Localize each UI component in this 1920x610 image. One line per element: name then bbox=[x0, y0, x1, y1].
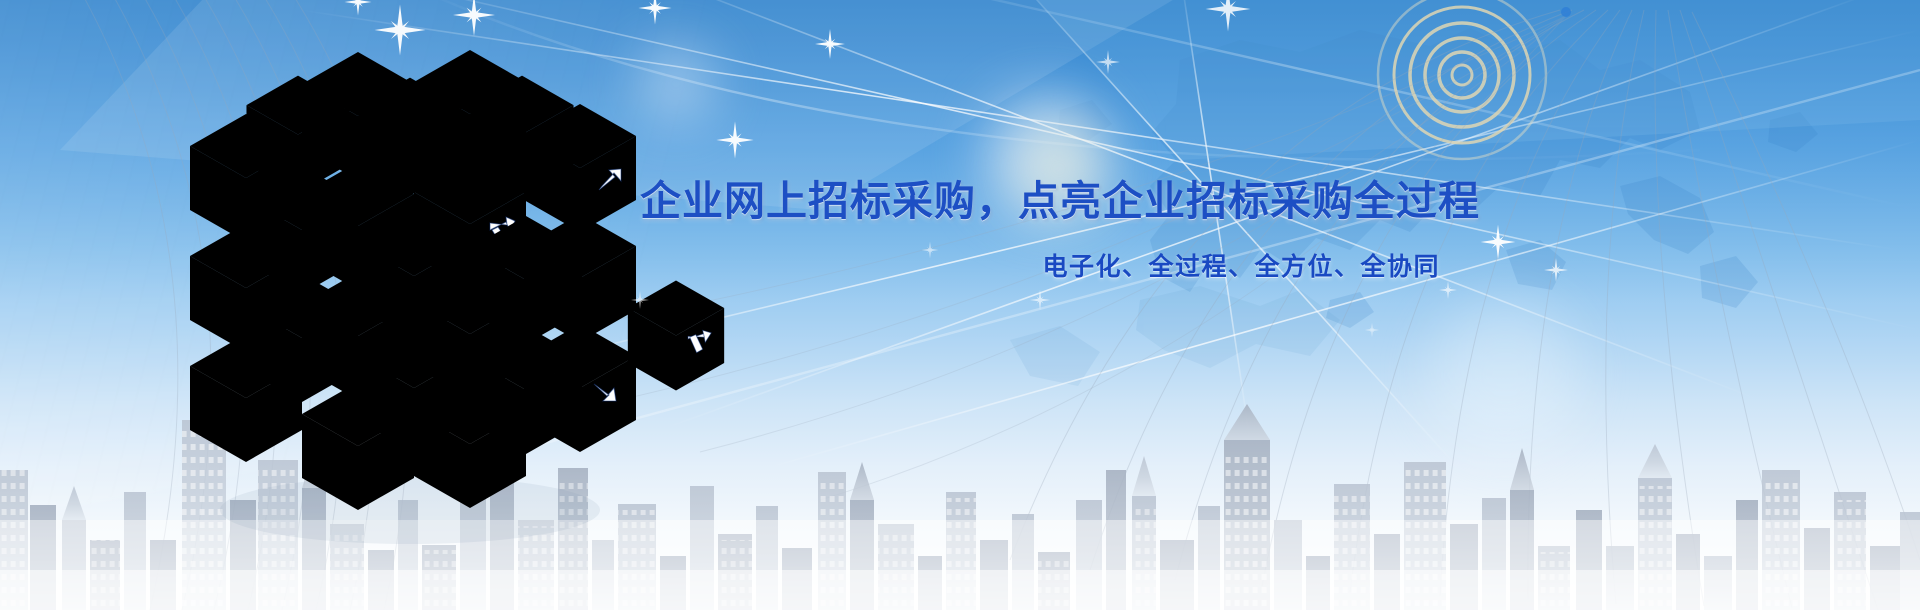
floating-cube bbox=[628, 280, 724, 390]
banner-headline: 企业网上招标采购，点亮企业招标采购全过程 bbox=[640, 178, 1440, 225]
glow-circle-mid bbox=[1430, 300, 1580, 450]
isometric-cube-cluster: .cb .f-top{fill:url(#bTop);} .cb .f-left… bbox=[110, 0, 750, 570]
promo-banner: .cb .f-top{fill:url(#bTop);} .cb .f-left… bbox=[0, 0, 1920, 610]
banner-subheadline: 电子化、全过程、全方位、全协同 bbox=[640, 247, 1440, 283]
banner-copy: 企业网上招标采购，点亮企业招标采购全过程 电子化、全过程、全方位、全协同 bbox=[640, 178, 1440, 283]
